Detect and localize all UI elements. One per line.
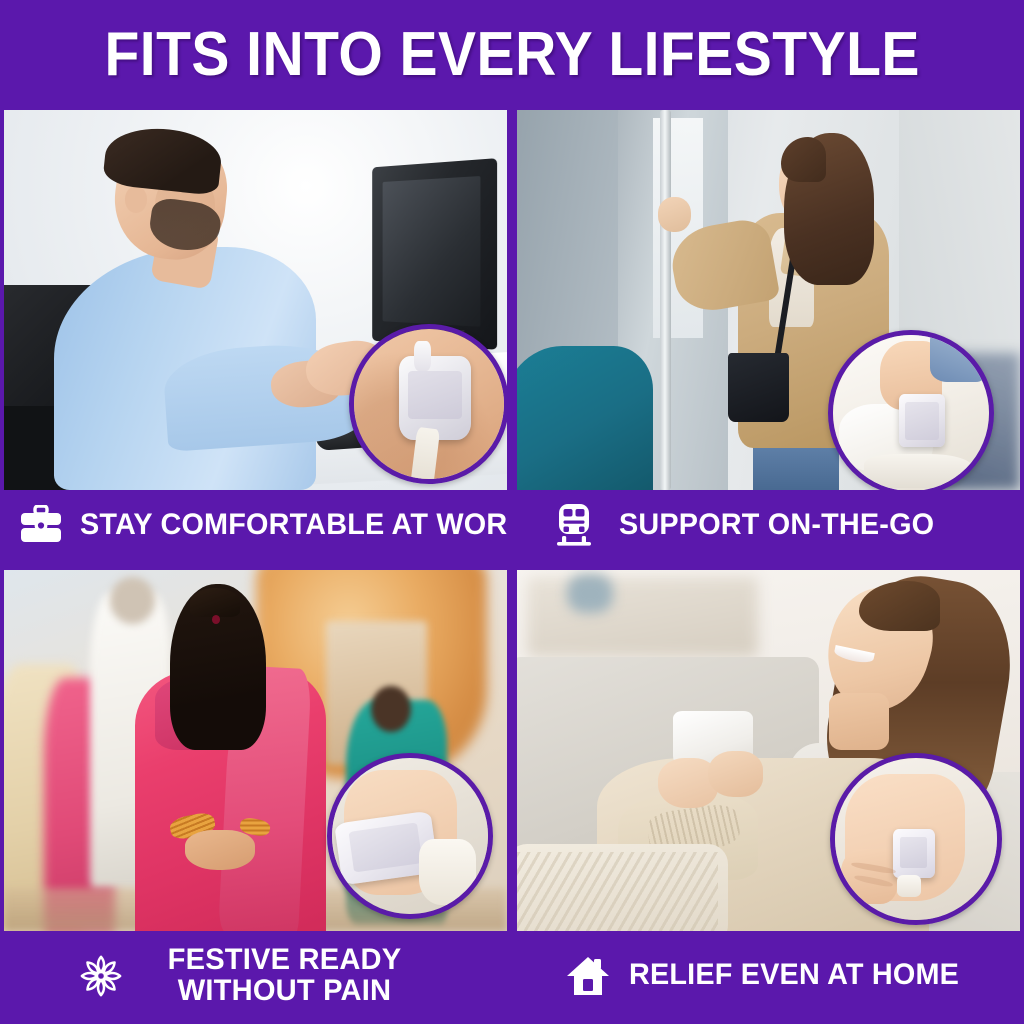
panel-home-photo bbox=[517, 570, 1020, 931]
caption-work: STAY COMFORTABLE AT WORK bbox=[4, 490, 507, 560]
flower-mandala-icon bbox=[78, 953, 124, 999]
caption-work-label: STAY COMFORTABLE AT WORK bbox=[80, 510, 507, 541]
train-icon bbox=[551, 502, 597, 548]
panel-work: STAY COMFORTABLE AT WORK bbox=[4, 110, 507, 560]
caption-commute-label: SUPPORT ON-THE-GO bbox=[619, 510, 934, 541]
panel-work-photo bbox=[4, 110, 507, 490]
callout-toe-splint-commute bbox=[828, 330, 994, 490]
callout-toe-splint-work bbox=[349, 324, 507, 484]
caption-festive: FESTIVE READY WITHOUT PAIN bbox=[4, 931, 507, 1020]
panel-home: RELIEF EVEN AT HOME bbox=[517, 570, 1020, 1020]
callout-toe-splint-festive bbox=[327, 753, 493, 919]
callout-toe-splint-home bbox=[830, 753, 1002, 925]
panel-grid: STAY COMFORTABLE AT WORK bbox=[0, 110, 1024, 1024]
header-banner: FITS INTO EVERY LIFESTYLE bbox=[0, 0, 1024, 110]
panel-commute-photo bbox=[517, 110, 1020, 490]
panel-festive-photo bbox=[4, 570, 507, 931]
caption-commute: SUPPORT ON-THE-GO bbox=[517, 490, 1020, 560]
caption-festive-label: FESTIVE READY WITHOUT PAIN bbox=[168, 945, 402, 1006]
infographic-root: FITS INTO EVERY LIFESTYLE bbox=[0, 0, 1024, 1024]
caption-home: RELIEF EVEN AT HOME bbox=[517, 931, 1020, 1020]
page-title: FITS INTO EVERY LIFESTYLE bbox=[104, 24, 919, 86]
briefcase-icon bbox=[18, 502, 64, 548]
panel-festive: FESTIVE READY WITHOUT PAIN bbox=[4, 570, 507, 1020]
caption-home-label: RELIEF EVEN AT HOME bbox=[629, 960, 959, 991]
panel-commute: SUPPORT ON-THE-GO bbox=[517, 110, 1020, 560]
house-icon bbox=[565, 953, 611, 999]
caption-festive-line1: FESTIVE READY bbox=[168, 943, 402, 976]
caption-festive-line2: WITHOUT PAIN bbox=[178, 974, 392, 1007]
